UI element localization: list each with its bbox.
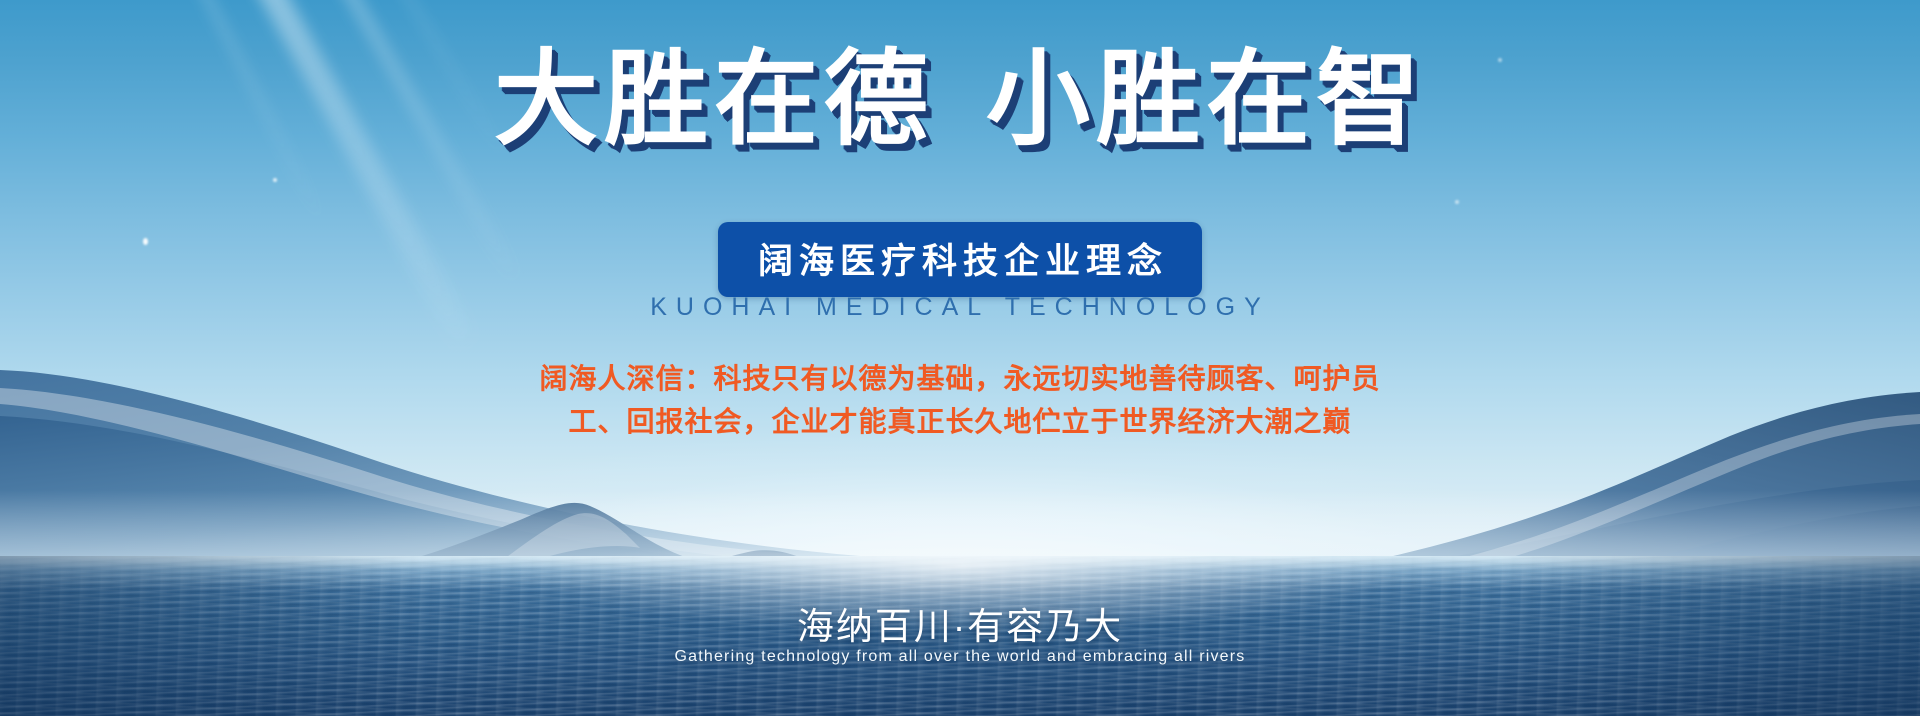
philosophy-badge: 阔海医疗科技企业理念 <box>718 222 1202 297</box>
badge-row: 阔海医疗科技企业理念 <box>0 222 1920 297</box>
statement-line-2: 工、回报社会，企业才能真正长久地伫立于世界经济大潮之巅 <box>0 401 1920 444</box>
motto-english: Gathering technology from all over the w… <box>0 648 1920 666</box>
philosophy-statement: 阔海人深信：科技只有以德为基础，永远切实地善待顾客、呵护员 工、回报社会，企业才… <box>0 358 1920 443</box>
statement-line-1: 阔海人深信：科技只有以德为基础，永远切实地善待顾客、呵护员 <box>0 358 1920 401</box>
headline-part-1: 大胜在德 <box>494 42 934 158</box>
motto-chinese: 海纳百川·有容乃大 <box>0 596 1920 650</box>
headline-part-2: 小胜在智 <box>986 42 1426 158</box>
corporate-philosophy-banner: 大胜在德小胜在智 阔海医疗科技企业理念 KUOHAI MEDICAL TECHN… <box>0 0 1920 716</box>
headline: 大胜在德小胜在智 <box>0 46 1920 155</box>
banner-content: 大胜在德小胜在智 阔海医疗科技企业理念 KUOHAI MEDICAL TECHN… <box>0 0 1920 716</box>
english-subtitle: KUOHAI MEDICAL TECHNOLOGY <box>0 293 1920 322</box>
